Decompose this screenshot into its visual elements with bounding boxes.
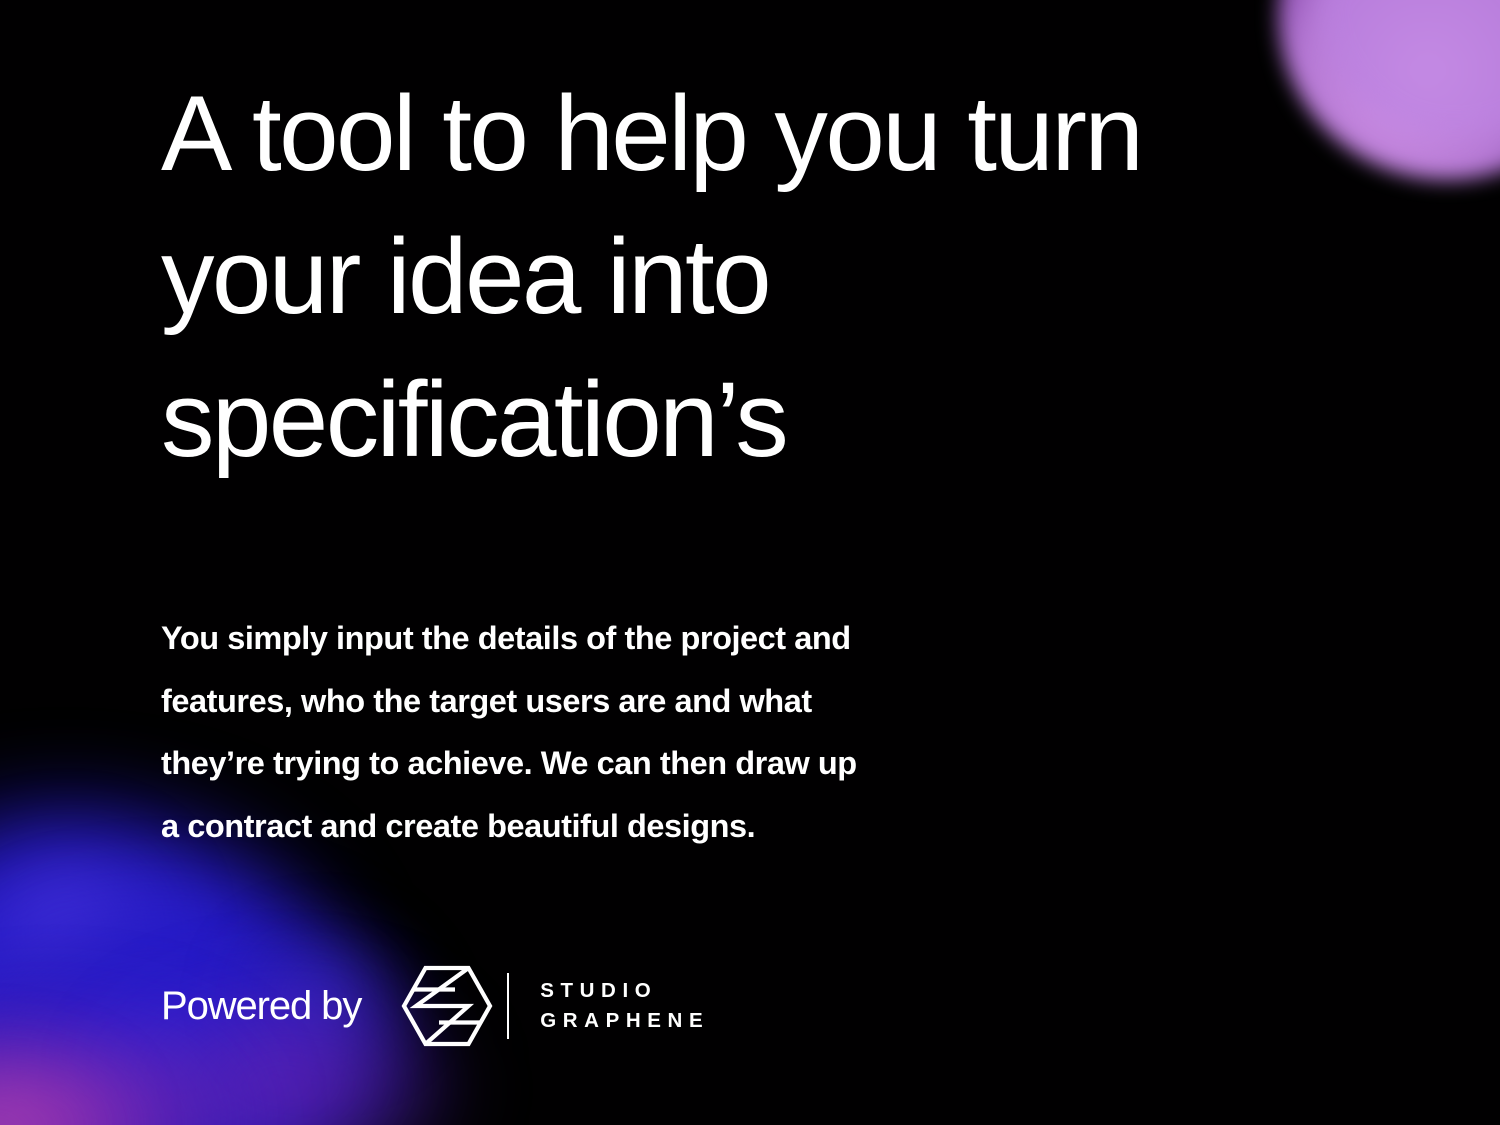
magenta-blob-bottom-edge-icon (0, 1060, 110, 1125)
headline-line-3: specification’s (161, 359, 786, 479)
subcopy-line-3: they’re trying to achieve. We can then d… (161, 732, 1091, 795)
page-title: A tool to help you turn your idea into s… (161, 0, 1291, 491)
studio-graphene-logo[interactable]: STUDIO GRAPHENE (400, 963, 709, 1049)
subcopy-line-1: You simply input the details of the proj… (161, 607, 1091, 670)
studio-graphene-hexagon-s-icon (400, 963, 494, 1049)
powered-by-label: Powered by (161, 986, 361, 1026)
hero-subcopy: You simply input the details of the proj… (161, 491, 1091, 857)
subcopy-line-4: a contract and create beautiful designs. (161, 795, 1091, 858)
studio-graphene-wordmark: STUDIO GRAPHENE (540, 976, 709, 1036)
headline-line-1: A tool to help you (161, 73, 939, 193)
wordmark-line-graphene: GRAPHENE (540, 1006, 709, 1036)
logo-divider (507, 973, 509, 1039)
splash-screen: A tool to help you turn your idea into s… (0, 0, 1500, 1125)
wordmark-line-studio: STUDIO (540, 976, 709, 1006)
hero-content: A tool to help you turn your idea into s… (0, 0, 1500, 1049)
powered-by-row: Powered by STUDIO (161, 857, 1500, 1049)
subcopy-line-2: features, who the target users are and w… (161, 670, 1091, 733)
